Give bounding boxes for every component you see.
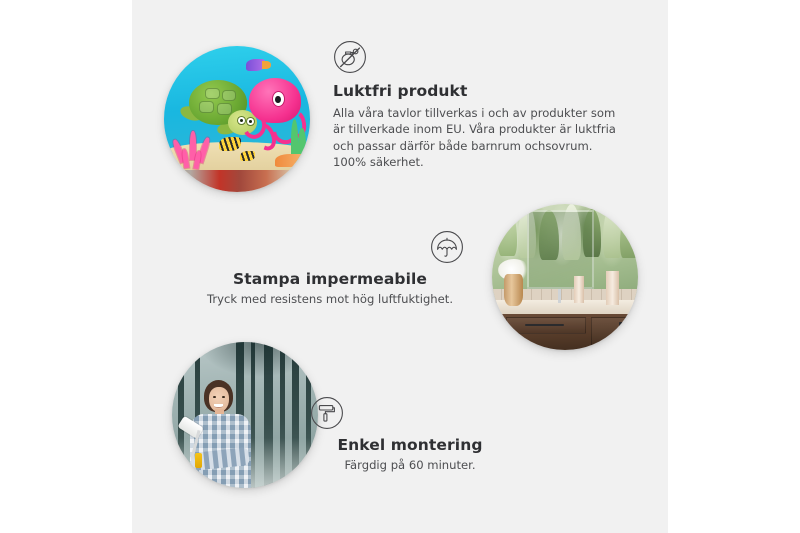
fish-icon bbox=[240, 151, 255, 161]
photo-bottom-strip bbox=[164, 170, 310, 192]
feature-title: Luktfri produkt bbox=[333, 82, 628, 100]
no-odor-spray-bottle-icon bbox=[333, 40, 628, 74]
feature-body: Färgdig på 60 minuter. bbox=[310, 457, 510, 473]
feature-title: Enkel montering bbox=[310, 436, 510, 454]
woman-with-paint-roller-photo bbox=[172, 342, 318, 488]
paint-roller-icon bbox=[310, 396, 510, 430]
paint-roller-grip bbox=[195, 453, 202, 468]
fish-tail-icon bbox=[262, 61, 271, 68]
feature-odorless: Luktfri produkt Alla våra tavlor tillver… bbox=[333, 40, 628, 171]
bathroom-mirror bbox=[527, 210, 594, 289]
soap-bottle bbox=[574, 276, 584, 304]
feature-waterproof: Stampa impermeabile Tryck med resistens … bbox=[196, 230, 464, 307]
promo-graphic: Luktfri produkt Alla våra tavlor tillver… bbox=[0, 0, 800, 533]
woman-smile bbox=[214, 404, 223, 408]
umbrella-icon bbox=[196, 230, 464, 264]
feature-title: Stampa impermeabile bbox=[196, 270, 464, 288]
underwater-cartoon-photo bbox=[164, 46, 310, 192]
bathroom-botanical-wallpaper-photo bbox=[492, 204, 638, 350]
wooden-vanity bbox=[501, 314, 638, 351]
feature-body: Tryck med resistens mot hög luftfuktighe… bbox=[196, 291, 464, 307]
feature-body: Alla våra tavlor tillverkas i och av pro… bbox=[333, 105, 628, 171]
soap-bottle bbox=[606, 271, 619, 305]
feature-easy-install: Enkel montering Färgdig på 60 minuter. bbox=[310, 396, 510, 473]
faucet bbox=[558, 289, 562, 304]
vase bbox=[504, 274, 523, 306]
